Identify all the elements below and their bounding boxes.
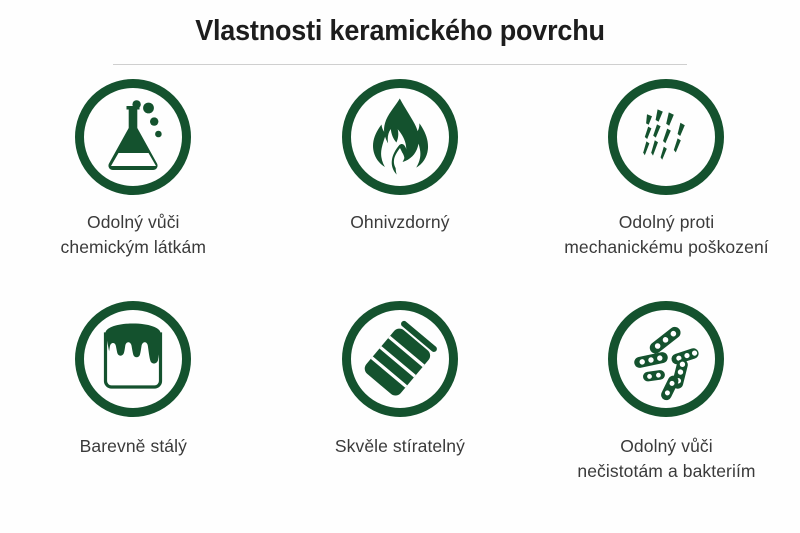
feature-item-bacteria-resistance: Odolný vůči nečistotám a bakteriím <box>533 300 800 525</box>
feature-item-colour-stability: Barevně stálý <box>0 300 267 525</box>
features-grid: Odolný vůči chemickým látkám <box>0 78 800 525</box>
feature-label: Barevně stálý <box>80 434 187 459</box>
header: Vlastnosti keramického povrchu <box>0 0 800 65</box>
paint-bucket-icon <box>74 300 192 418</box>
feature-item-mechanical-resistance: Odolný proti mechanickému poškození <box>533 78 800 300</box>
feature-label: Odolný vůči chemickým látkám <box>61 210 207 260</box>
feature-label: Skvěle stíratelný <box>335 434 465 459</box>
eraser-icon <box>341 300 459 418</box>
scratch-marks-icon <box>607 78 725 196</box>
feature-label: Ohnivzdorný <box>350 210 449 235</box>
title-divider <box>113 64 687 65</box>
feature-label: Odolný vůči nečistotám a bakteriím <box>577 434 755 484</box>
page-title: Vlastnosti keramického povrchu <box>28 12 772 51</box>
feature-item-wipeability: Skvěle stíratelný <box>267 300 534 525</box>
feature-label: Odolný proti mechanickému poškození <box>564 210 769 260</box>
chemical-flask-icon <box>74 78 192 196</box>
bacteria-icon <box>607 300 725 418</box>
feature-item-chemical-resistance: Odolný vůči chemickým látkám <box>0 78 267 300</box>
feature-item-fire-resistance: Ohnivzdorný <box>267 78 534 300</box>
flame-icon <box>341 78 459 196</box>
ceramic-surface-properties-infographic: Vlastnosti keramického povrchu <box>0 0 800 533</box>
